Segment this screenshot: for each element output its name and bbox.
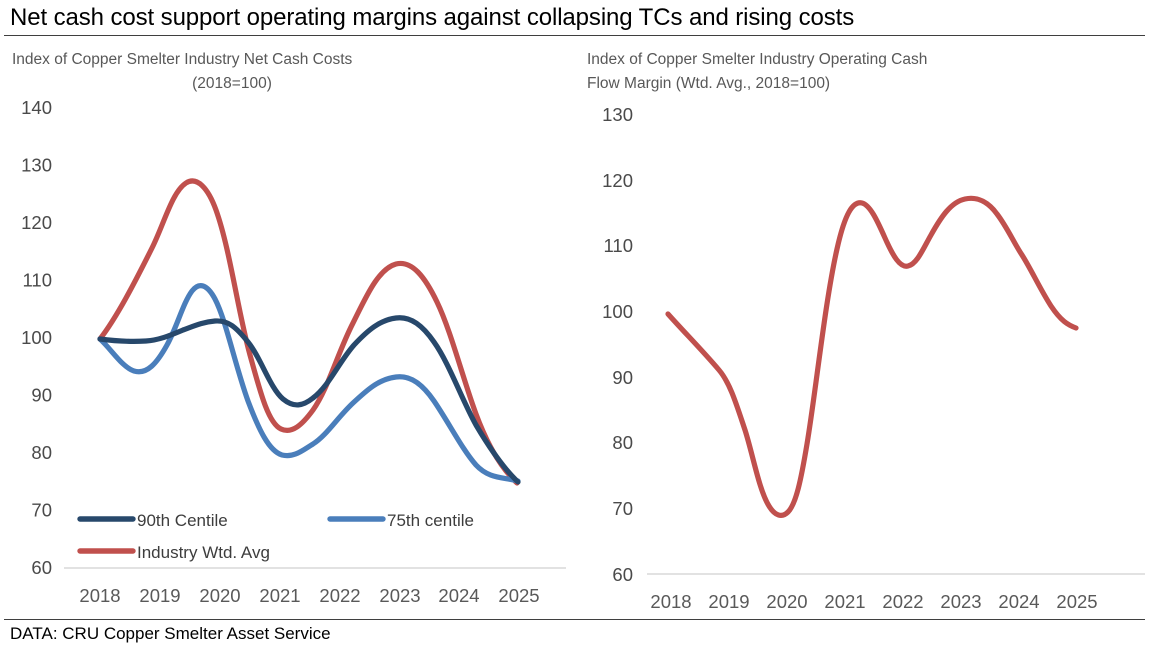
left-ytick-80: 80	[31, 442, 52, 463]
right-xtick-2024: 2024	[998, 591, 1039, 612]
left-series-90th-centile	[100, 318, 518, 482]
right-series-industry-wtd-avg	[668, 198, 1076, 515]
legend-label-industry-wtd-avg: Industry Wtd. Avg	[137, 543, 270, 562]
legend-label-90th-centile: 90th Centile	[137, 511, 228, 530]
left-chart-svg: 140 130 120 110 100 90 80 70 60 2018 201…	[0, 40, 575, 615]
left-xtick-2021: 2021	[259, 585, 300, 606]
chart-page: Net cash cost support operating margins …	[0, 0, 1149, 654]
right-chart-svg: 130 120 110 100 90 80 70 60 2018 2019 20…	[575, 40, 1149, 615]
left-ytick-70: 70	[31, 500, 52, 521]
left-xtick-2023: 2023	[379, 585, 420, 606]
left-xtick-2025: 2025	[498, 585, 539, 606]
right-xtick-2022: 2022	[882, 591, 923, 612]
left-ytick-130: 130	[21, 155, 52, 176]
panel-net-cash-costs: Index of Copper Smelter Industry Net Cas…	[0, 40, 575, 615]
right-ytick-120: 120	[602, 170, 633, 191]
left-xtick-2018: 2018	[79, 585, 120, 606]
left-xtick-2024: 2024	[438, 585, 479, 606]
left-ytick-110: 110	[23, 270, 53, 291]
left-ytick-140: 140	[21, 97, 52, 118]
right-ytick-110: 110	[604, 235, 634, 256]
right-xtick-2025: 2025	[1056, 591, 1097, 612]
right-ytick-70: 70	[612, 498, 633, 519]
left-xtick-2019: 2019	[139, 585, 180, 606]
left-xtick-2020: 2020	[199, 585, 240, 606]
right-xtick-2019: 2019	[708, 591, 749, 612]
right-xtick-2021: 2021	[824, 591, 865, 612]
footer-divider	[4, 619, 1145, 620]
right-xtick-2023: 2023	[940, 591, 981, 612]
right-ytick-130: 130	[602, 104, 633, 125]
panel-operating-cash-flow-margin: Index of Copper Smelter Industry Operati…	[575, 40, 1149, 615]
left-ytick-60: 60	[31, 557, 52, 578]
right-ytick-100: 100	[602, 301, 633, 322]
left-ytick-90: 90	[31, 385, 52, 406]
right-ytick-80: 80	[612, 432, 633, 453]
footer-source: DATA: CRU Copper Smelter Asset Service	[10, 624, 331, 644]
title-divider	[4, 35, 1145, 36]
page-title: Net cash cost support operating margins …	[10, 4, 854, 32]
left-xtick-2022: 2022	[319, 585, 360, 606]
page-title-bar: Net cash cost support operating margins …	[0, 0, 1149, 36]
left-ytick-100: 100	[21, 327, 52, 348]
left-legend: 90th Centile 75th centile Industry Wtd. …	[80, 511, 474, 562]
left-ytick-120: 120	[21, 212, 52, 233]
right-ytick-60: 60	[612, 564, 633, 585]
right-xtick-2018: 2018	[650, 591, 691, 612]
legend-label-75th-centile: 75th centile	[387, 511, 474, 530]
right-ytick-90: 90	[612, 367, 633, 388]
right-xtick-2020: 2020	[766, 591, 807, 612]
